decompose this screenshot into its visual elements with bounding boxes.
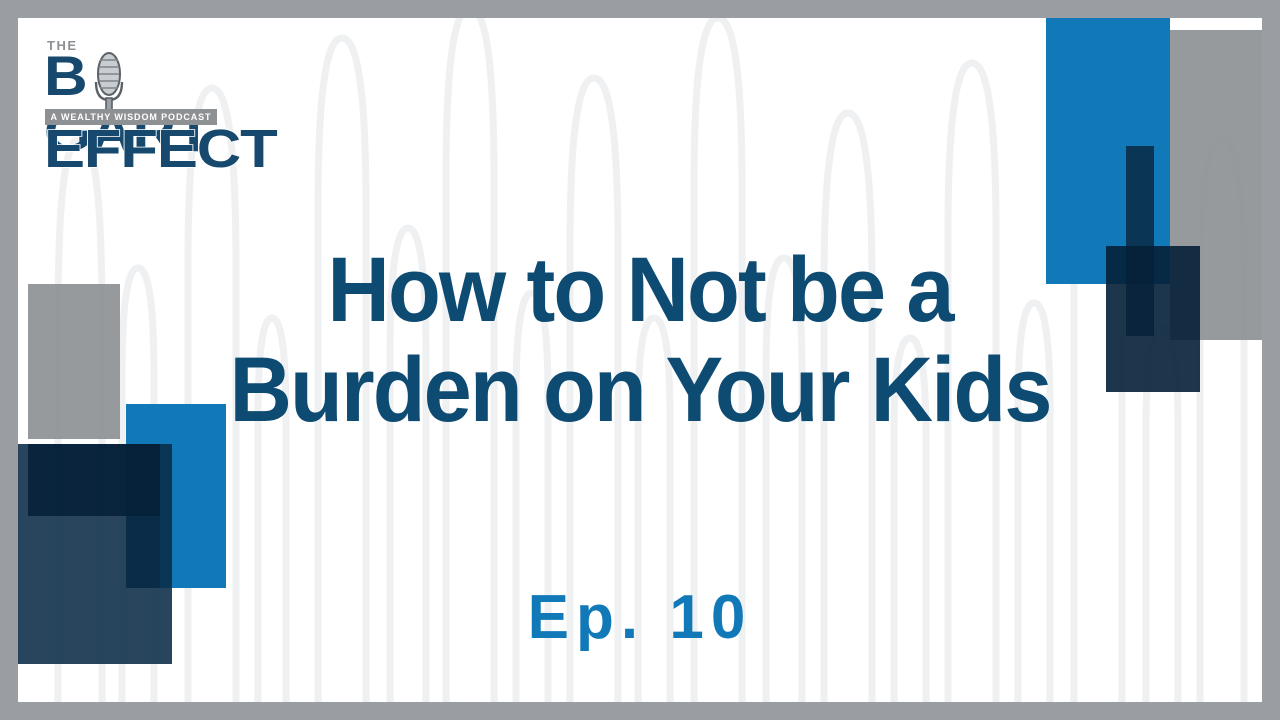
title-line-2: Burden on Your Kids <box>93 340 1187 440</box>
podcast-logo[interactable]: THE B GART A WEALTHY WISDOM PODCAST <box>30 26 220 181</box>
decor-rect-navy-tall <box>126 444 160 588</box>
card-canvas: THE B GART A WEALTHY WISDOM PODCAST <box>18 18 1262 702</box>
logo-wordmark-bottom: EFFECT <box>44 122 277 176</box>
decor-rect-dark-navy <box>28 444 160 516</box>
episode-title-card: THE B GART A WEALTHY WISDOM PODCAST <box>0 0 1280 720</box>
episode-label: Ep. 10 <box>18 583 1262 653</box>
page-title: How to Not be a Burden on Your Kids <box>18 240 1262 440</box>
title-line-1: How to Not be a <box>93 240 1187 340</box>
